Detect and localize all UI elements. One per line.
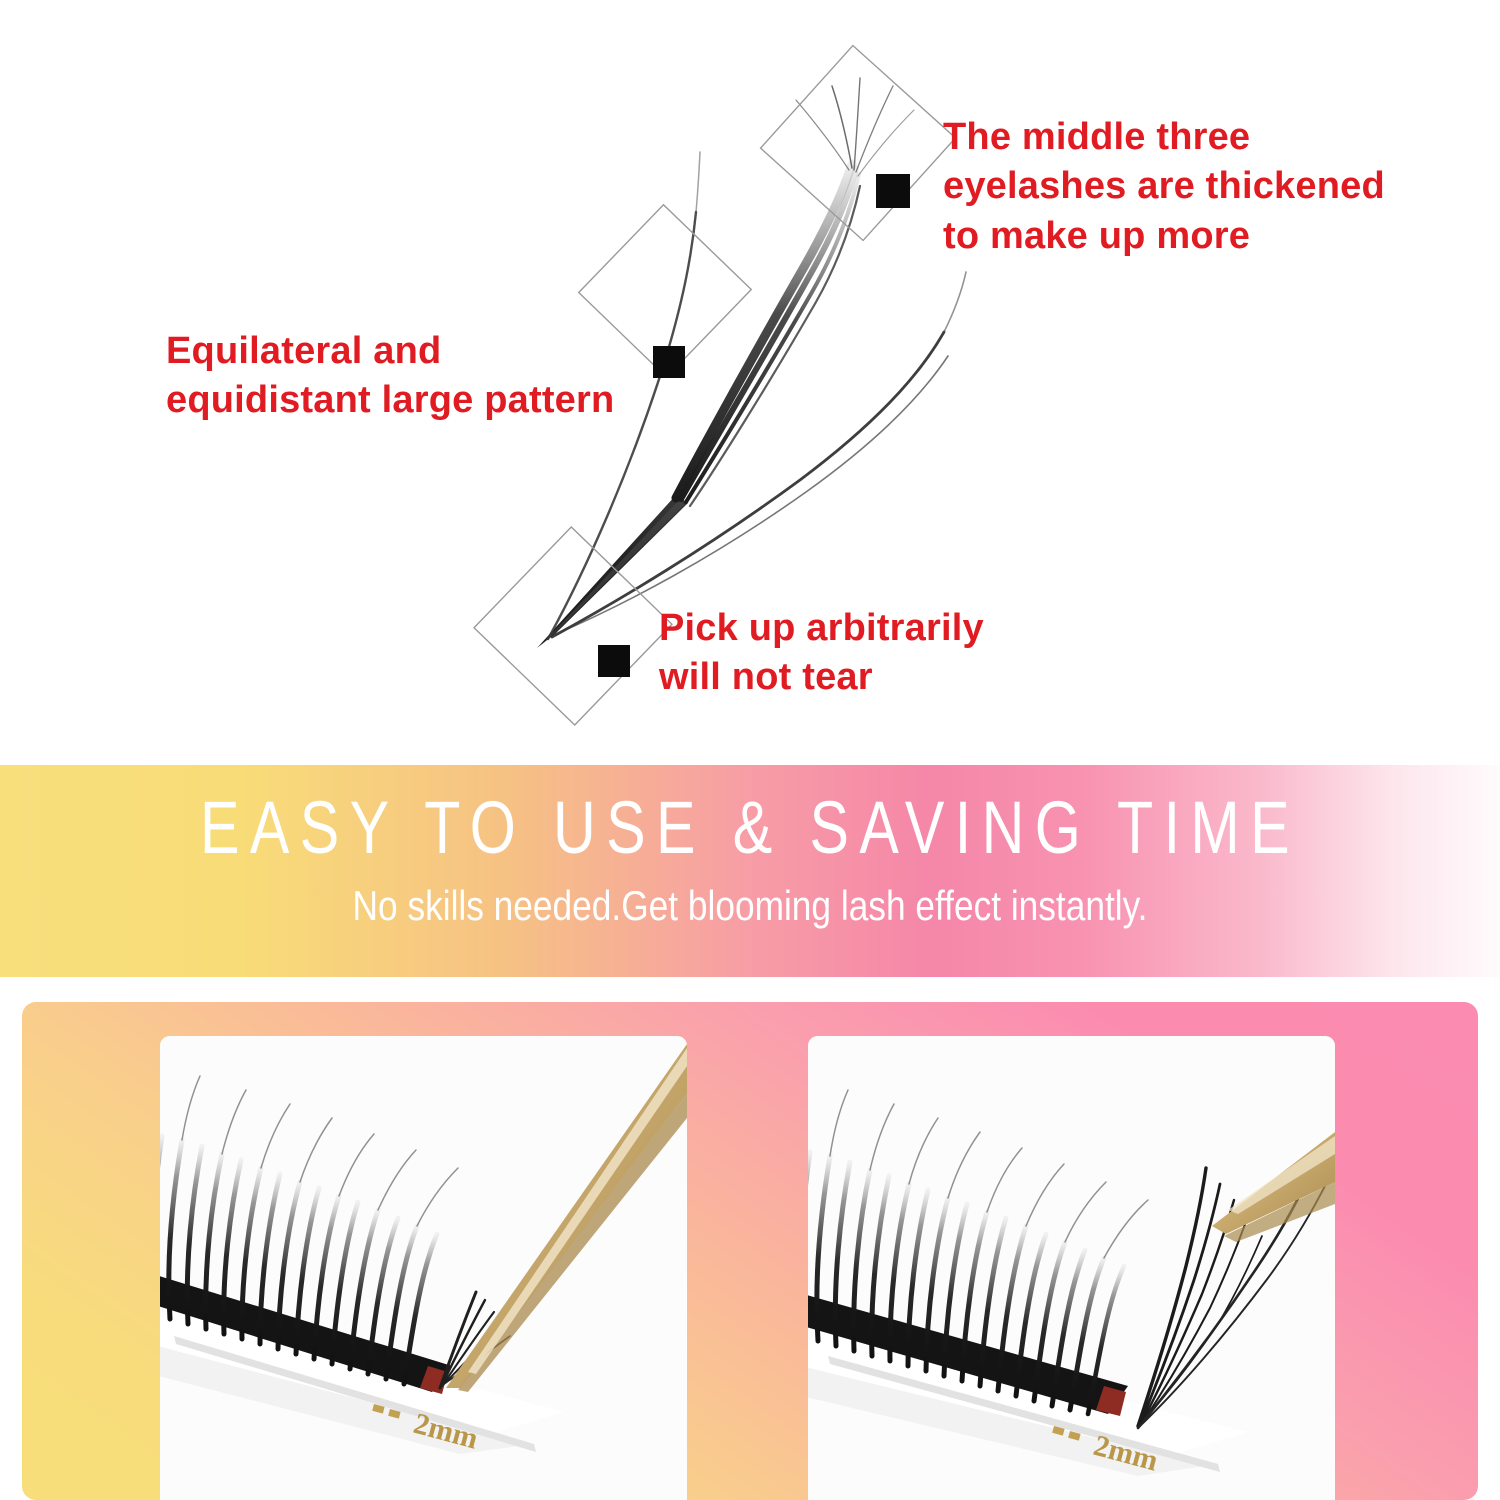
banner-subtitle: No skills needed.Get blooming lash effec… [120, 885, 1380, 927]
photo-card-left[interactable]: 2mm [160, 1036, 687, 1500]
headline-banner: EASY TO USE & SAVING TIME No skills need… [0, 765, 1500, 977]
banner-title: EASY TO USE & SAVING TIME [150, 791, 1350, 865]
photo-card-right[interactable]: 2mm [808, 1036, 1335, 1500]
photo-lash-tray-with-picked-fan: 2mm [808, 1036, 1335, 1500]
callout-middle-three-eyelashes: The middle three eyelashes are thickened… [943, 113, 1385, 261]
photo-lash-tray-with-tweezers: 2mm [160, 1036, 687, 1500]
marker-top-square [876, 174, 910, 208]
marker-top [761, 46, 956, 241]
callout-pick-up-arbitrarily: Pick up arbitrarily will not tear [659, 604, 984, 703]
marker-middle-square [653, 346, 685, 378]
product-photo-panel: 2mm [22, 1002, 1478, 1500]
marker-bottom-square [598, 645, 630, 677]
fine-lash-fibers-upper [796, 78, 914, 176]
feature-diagram-section: The middle three eyelashes are thickened… [0, 0, 1500, 762]
callout-equilateral-pattern: Equilateral and equidistant large patter… [166, 327, 614, 426]
